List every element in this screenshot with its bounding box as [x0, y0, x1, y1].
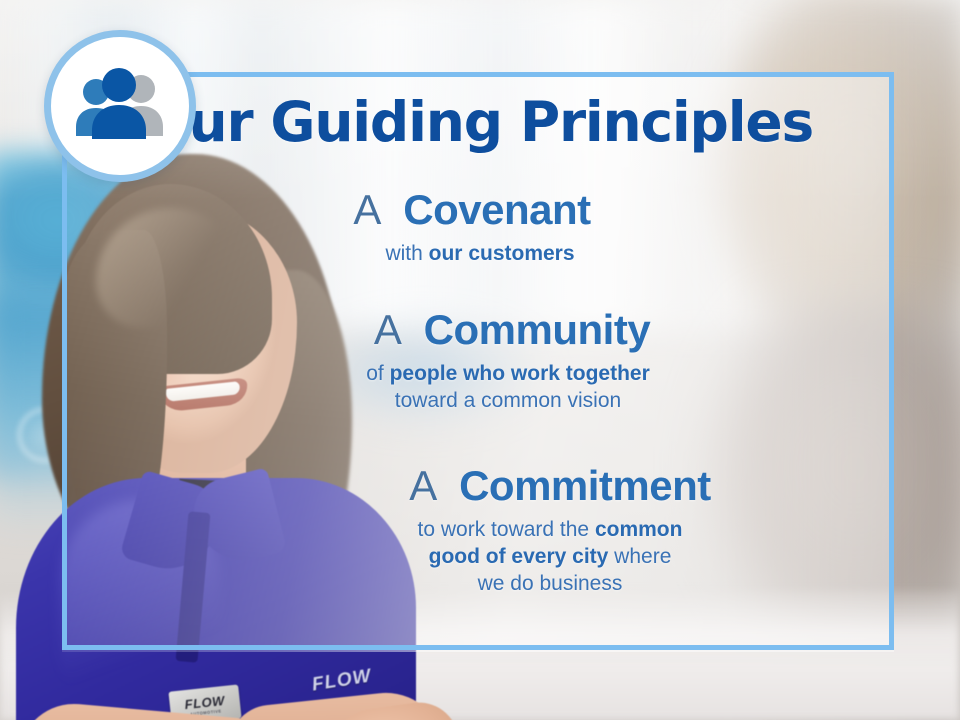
- subtext-line: good of every city where: [134, 543, 960, 570]
- principle-word: Commitment: [459, 462, 711, 509]
- people-group-badge: [44, 30, 196, 182]
- subtext-line: of people who work together: [92, 360, 924, 387]
- subtext-run-bold: people who work together: [390, 362, 650, 385]
- subtext-run: of: [366, 362, 389, 385]
- guiding-principles-graphic: FLOW AUTOMOTIVE FLOW: [0, 0, 960, 720]
- subtext-line: with our customers: [64, 240, 896, 267]
- copy-block: Our Guiding Principles A Covenant with o…: [62, 72, 900, 650]
- subtext-run: we do business: [478, 572, 623, 595]
- principle-covenant: A Covenant with our customers: [56, 188, 888, 267]
- principle-word: Covenant: [403, 186, 590, 233]
- principle-article: A: [409, 462, 448, 509]
- principle-subtext: of people who work together toward a com…: [92, 360, 924, 415]
- subtext-run: where: [608, 545, 671, 568]
- subtext-run: toward a common vision: [395, 389, 621, 412]
- principle-subtext: with our customers: [64, 240, 896, 267]
- principle-article: A: [353, 186, 392, 233]
- subtext-line: toward a common vision: [92, 387, 924, 414]
- principle-subtext: to work toward the common good of every …: [134, 516, 960, 598]
- principle-commitment: A Commitment to work toward the common g…: [144, 464, 960, 597]
- principle-headline: A Community: [96, 308, 928, 353]
- subtext-line: to work toward the common: [134, 516, 960, 543]
- principle-community: A Community of people who work together …: [96, 308, 928, 414]
- subtext-run-bold: common: [595, 518, 683, 541]
- subtext-run-bold: our customers: [429, 242, 575, 265]
- principle-article: A: [374, 306, 413, 353]
- principle-word: Community: [424, 306, 651, 353]
- people-group-icon: [67, 68, 173, 144]
- subtext-run-bold: good of every city: [429, 545, 609, 568]
- subtext-line: we do business: [134, 570, 960, 597]
- subtext-run: to work toward the: [418, 518, 595, 541]
- principle-headline: A Covenant: [56, 188, 888, 233]
- subtext-run: with: [385, 242, 428, 265]
- principle-headline: A Commitment: [144, 464, 960, 509]
